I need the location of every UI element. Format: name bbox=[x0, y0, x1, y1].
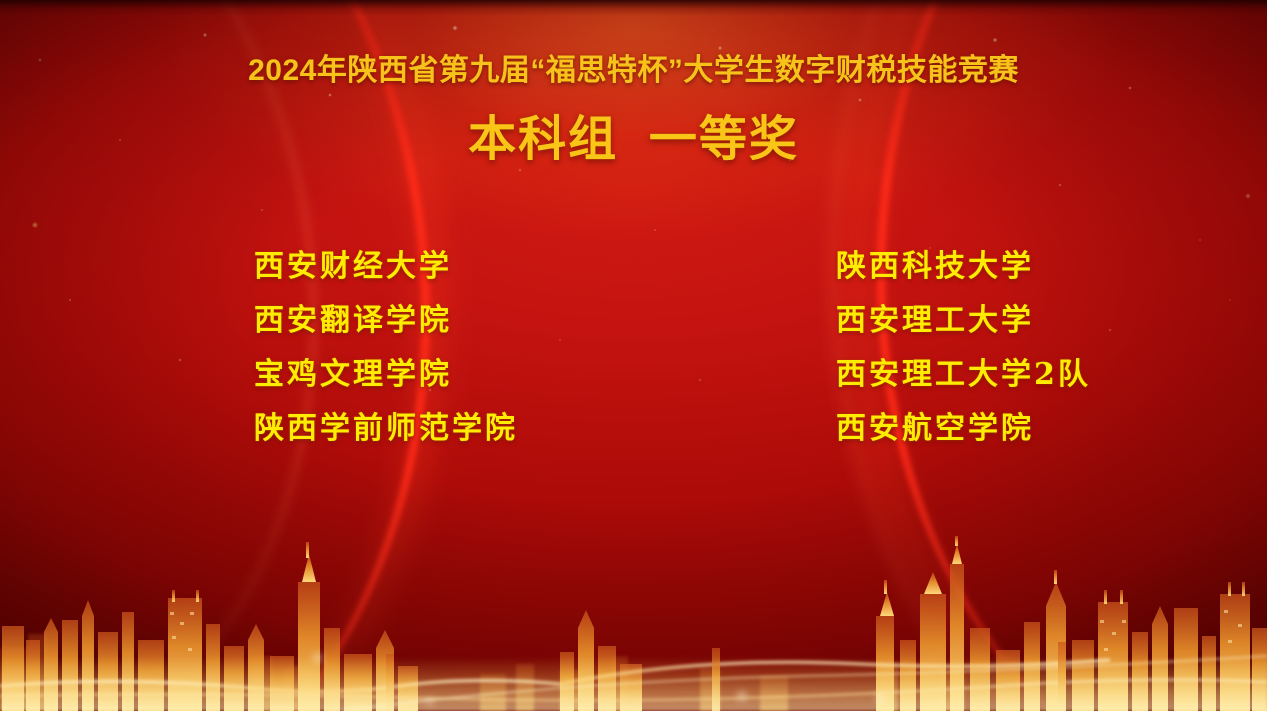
award-slide: 2024年陕西省第九届“福思特杯”大学生数字财税技能竞赛 本科组 一等奖 西安财… bbox=[0, 0, 1267, 711]
winner-name: 西安翻译学院 bbox=[232, 294, 518, 348]
winner-name: 陕西科技大学 bbox=[554, 240, 1091, 294]
slide-content: 2024年陕西省第九届“福思特杯”大学生数字财税技能竞赛 本科组 一等奖 西安财… bbox=[0, 0, 1267, 711]
winners-list: 西安财经大学 陕西科技大学 西安翻译学院 西安理工大学 宝鸡文理学院 西安理工大… bbox=[232, 240, 1052, 456]
winner-name: 宝鸡文理学院 bbox=[232, 348, 518, 402]
award-category-heading: 本科组 一等奖 bbox=[0, 99, 1267, 169]
competition-title: 2024年陕西省第九届“福思特杯”大学生数字财税技能竞赛 bbox=[0, 45, 1267, 89]
winner-name: 西安理工大学 bbox=[554, 294, 1091, 348]
winner-name: 西安理工大学2队 bbox=[554, 348, 1091, 402]
winner-name: 陕西学前师范学院 bbox=[232, 402, 518, 456]
winner-name: 西安财经大学 bbox=[232, 240, 518, 294]
winner-name: 西安航空学院 bbox=[554, 402, 1091, 456]
